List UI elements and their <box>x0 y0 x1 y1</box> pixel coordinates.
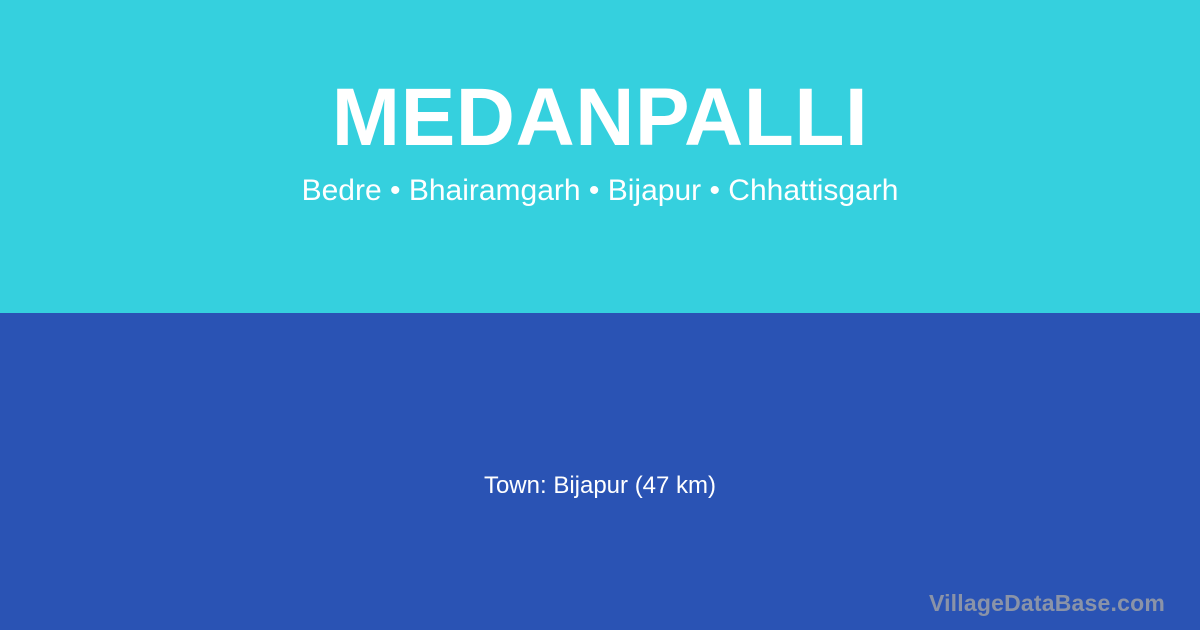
site-watermark: VillageDataBase.com <box>929 589 1165 617</box>
breadcrumb: Bedre • Bhairamgarh • Bijapur • Chhattis… <box>302 174 899 208</box>
header-band: MEDANPALLI Bedre • Bhairamgarh • Bijapur… <box>0 0 1200 313</box>
nearest-town-text: Town: Bijapur (47 km) <box>484 472 716 499</box>
village-info-card: MEDANPALLI Bedre • Bhairamgarh • Bijapur… <box>0 0 1200 630</box>
body-band: Town: Bijapur (47 km) VillageDataBase.co… <box>0 313 1200 630</box>
nearest-town-row: Town: Bijapur (47 km) <box>0 471 1200 501</box>
page-title: MEDANPALLI <box>332 76 868 160</box>
